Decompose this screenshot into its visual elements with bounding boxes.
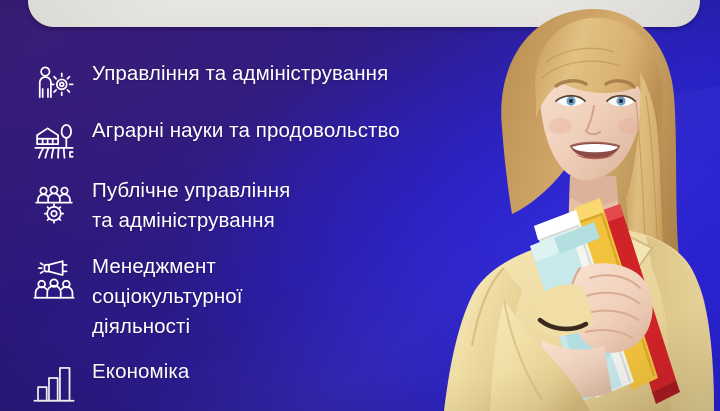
list-item[interactable]: Публічне управління та адміністрування: [30, 175, 480, 236]
list-item[interactable]: Аграрні науки та продовольство: [30, 115, 480, 163]
list-item-label: Публічне управління та адміністрування: [92, 175, 290, 236]
farm-field-icon: [30, 117, 78, 163]
list-item[interactable]: Менеджмент соціокультурної діяльності: [30, 251, 480, 342]
slide-canvas: програми Управління та адміністрування: [0, 0, 720, 411]
people-gear-icon: [30, 181, 78, 227]
list-item-label: Управління та адміністрування: [92, 58, 388, 89]
person-gear-icon: [30, 60, 78, 106]
list-item-label: Менеджмент соціокультурної діяльності: [92, 251, 243, 342]
megaphone-audience-icon: [30, 257, 78, 303]
list-item-label: Економіка: [92, 356, 189, 387]
title-panel: програми: [28, 0, 700, 27]
bar-chart-icon: [30, 360, 78, 406]
program-list: Управління та адміністрування Аграрні на…: [30, 58, 480, 411]
list-item[interactable]: Економіка: [30, 356, 480, 406]
list-item[interactable]: Управління та адміністрування: [30, 58, 480, 106]
list-item-label: Аграрні науки та продовольство: [92, 115, 400, 146]
